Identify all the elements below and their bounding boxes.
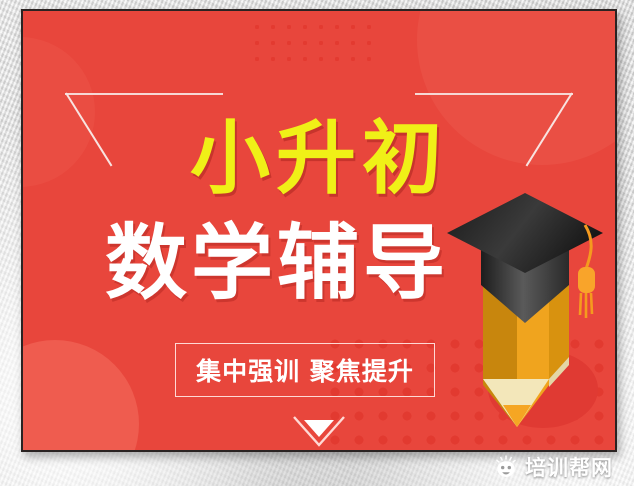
decorative-circle-bottom-left [21,340,139,452]
banner-image: 小升初 数学辅导 集中强训 聚焦提升 [0,0,634,486]
subtitle-box: 集中强训 聚焦提升 [175,343,435,397]
scroll-down-chevron-icon[interactable] [291,413,347,449]
subtitle-text: 集中强训 聚焦提升 [196,352,414,388]
watermark: 培训帮网 [494,452,613,482]
bracket-right-bar [415,93,573,95]
dot-grid-top [249,19,381,69]
watermark-text: 培训帮网 [525,452,613,482]
owl-face-icon [494,455,518,479]
graduation-cap-pencil-icon [445,189,605,437]
ad-banner-card: 小升初 数学辅导 集中强训 聚焦提升 [21,9,617,452]
page-title-primary: 小升初 [23,119,615,199]
bracket-left-bar [65,93,223,95]
